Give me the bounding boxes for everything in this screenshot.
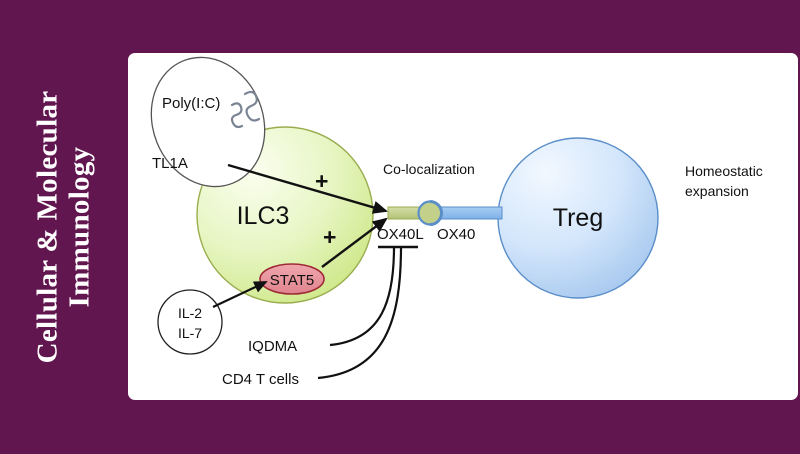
cd4-label: CD4 T cells: [222, 371, 299, 388]
ilc3-label: ILC3: [237, 202, 290, 230]
homeostatic-label-line1: Homeostatic: [685, 163, 763, 179]
polyic-label: Poly(I:C): [162, 95, 220, 112]
cytokine-bubble: [158, 290, 222, 354]
treg-label: Treg: [553, 204, 603, 232]
ox40-label: OX40: [437, 226, 475, 243]
plus-sign-bottom: +: [323, 224, 336, 250]
plus-sign-top: +: [315, 168, 328, 194]
ox40l-label: OX40L: [377, 226, 424, 243]
stat5-label: STAT5: [270, 272, 314, 289]
colocalization-label: Co-localization: [383, 161, 475, 177]
homeostatic-label-line2: expansion: [685, 183, 749, 199]
iqdma-label: IQDMA: [248, 338, 297, 355]
il7-label: IL-7: [178, 325, 202, 341]
figure-screenshot: Cellular & Molecular Immunology: [0, 0, 800, 454]
tl1a-label: TL1A: [152, 155, 188, 172]
pathway-diagram: ILC3 Treg Poly(I:C) TL1A STAT5 IL-2 IL-7…: [0, 0, 800, 454]
il2-label: IL-2: [178, 305, 202, 321]
